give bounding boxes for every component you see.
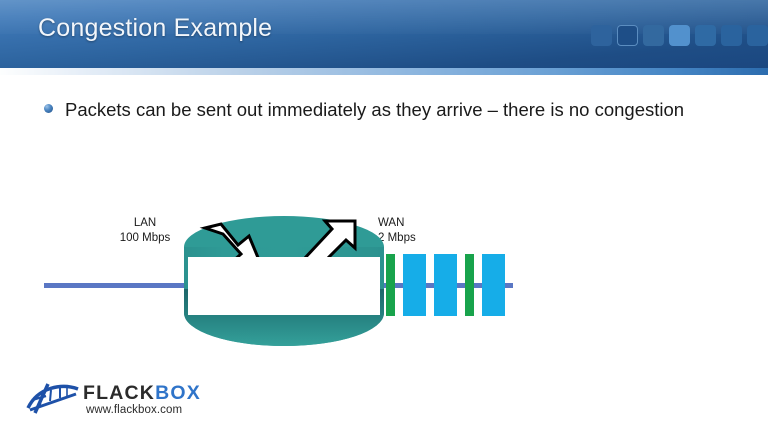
packet-5-blue (482, 254, 505, 316)
logo-url: www.flackbox.com (86, 404, 182, 416)
lan-name-label: LAN (105, 216, 185, 231)
header-square-7 (747, 25, 768, 46)
packet-3-blue (434, 254, 457, 316)
header-decoration-squares (591, 25, 768, 46)
lan-speed-label: 100 Mbps (105, 231, 185, 246)
header-square-6 (721, 25, 742, 46)
bullet-item-text: Packets can be sent out immediately as t… (65, 96, 704, 123)
router-icon (183, 215, 385, 348)
network-diagram: LAN 100 Mbps WAN 2 Mbps (0, 195, 768, 365)
slide: Congestion Example Packets can be sent o… (0, 0, 768, 432)
header-square-2 (617, 25, 638, 46)
header-square-4 (669, 25, 690, 46)
bullet-list: Packets can be sent out immediately as t… (44, 96, 704, 123)
header-square-5 (695, 25, 716, 46)
header-square-3 (643, 25, 664, 46)
lan-link-line (44, 283, 196, 288)
slide-header: Congestion Example (0, 0, 768, 68)
header-underline (0, 68, 768, 75)
wan-name-label: WAN (378, 216, 448, 231)
wan-label-group: WAN 2 Mbps (378, 216, 448, 246)
router-face-overlay (188, 257, 380, 315)
bullet-dot-icon (44, 104, 53, 113)
header-square-1 (591, 25, 612, 46)
flackbox-logo: FLACKBOX www.flackbox.com (26, 378, 198, 422)
lan-label-group: LAN 100 Mbps (105, 216, 185, 246)
packet-4-green (465, 254, 474, 316)
flackbox-bridge-icon (26, 380, 80, 414)
page-title: Congestion Example (38, 14, 272, 43)
packet-1-green (386, 254, 395, 316)
wan-speed-label: 2 Mbps (378, 231, 448, 246)
logo-brand-second: BOX (155, 382, 201, 404)
logo-brand-first: FLACK (83, 382, 155, 404)
logo-wordmark: FLACKBOX (83, 382, 201, 405)
packet-2-blue (403, 254, 426, 316)
